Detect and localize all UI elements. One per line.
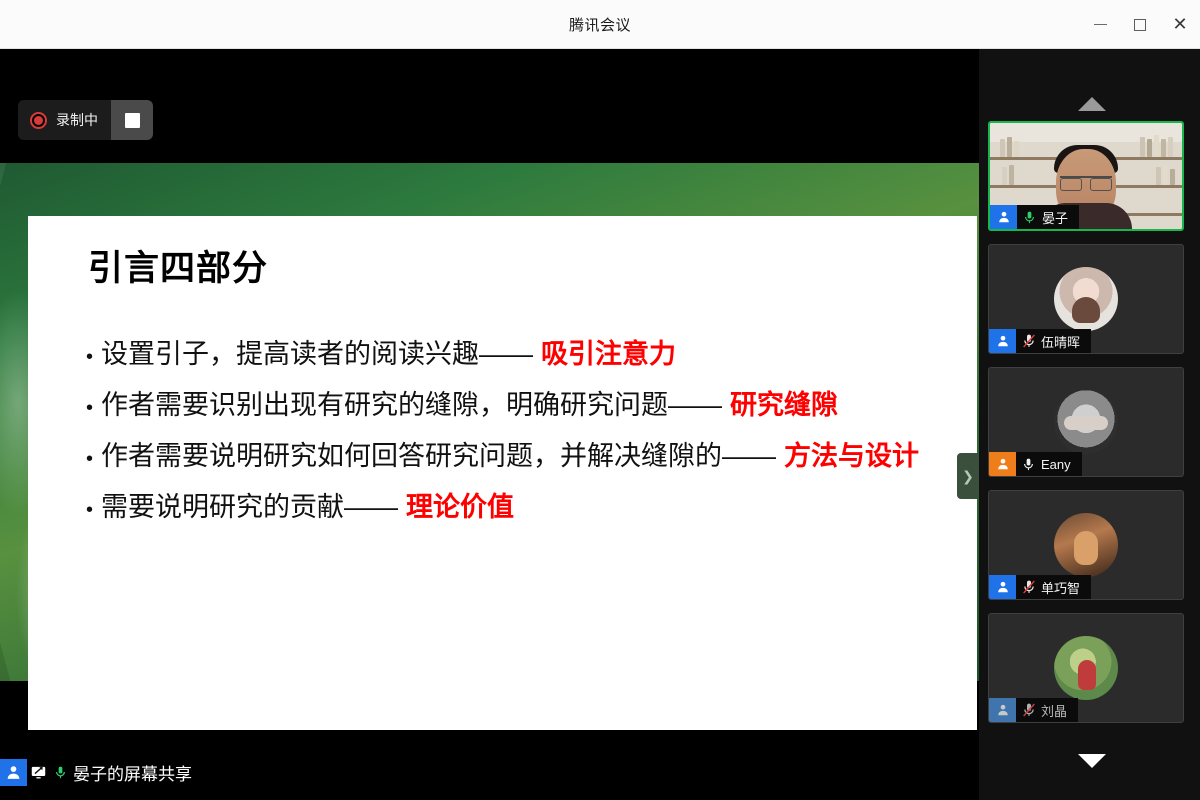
stop-recording-button[interactable] [111, 100, 153, 140]
close-icon: ✕ [1172, 16, 1187, 34]
collapse-sidebar-handle[interactable]: ❯ [957, 453, 979, 499]
bullet-text: 作者需要说明研究如何回答研究问题，并解决缝隙的—— [101, 443, 776, 470]
mic-on-icon [1016, 452, 1041, 476]
bullet-highlight: 研究缝隙 [730, 392, 838, 419]
bullet-marker: • [86, 449, 93, 469]
screen-share-icon [27, 759, 49, 786]
person-icon [989, 452, 1016, 476]
bullet-text: 设置引子，提高读者的阅读兴趣—— [101, 341, 533, 368]
participant-name: 伍晴晖 [1041, 332, 1091, 351]
meeting-body: 引言四部分 • 设置引子，提高读者的阅读兴趣——吸引注意力 • 作者需要识别出现… [0, 49, 1200, 800]
mic-active-icon [1017, 205, 1042, 229]
screen-share-status-bar: 晏子的屏幕共享 [0, 759, 192, 786]
participant-name: 刘晶 [1041, 701, 1078, 720]
participant-tile[interactable]: Eany [988, 367, 1184, 477]
bullet-marker: • [86, 398, 93, 418]
list-item: • 作者需要识别出现有研究的缝隙，明确研究问题——研究缝隙 [86, 392, 957, 419]
list-item: • 设置引子，提高读者的阅读兴趣——吸引注意力 [86, 341, 957, 368]
bullet-marker: • [86, 347, 93, 367]
list-item: • 需要说明研究的贡献——理论价值 [86, 494, 957, 521]
participant-name: Eany [1041, 457, 1082, 472]
participant-nameplate: 刘晶 [989, 698, 1078, 722]
share-status-text: 晏子的屏幕共享 [71, 760, 192, 785]
shared-screen-region[interactable]: 引言四部分 • 设置引子，提高读者的阅读兴趣——吸引注意力 • 作者需要识别出现… [0, 49, 979, 800]
bullet-marker: • [86, 500, 93, 520]
participant-tile[interactable]: 刘晶 [988, 613, 1184, 723]
mic-muted-icon [1016, 575, 1041, 599]
avatar [1054, 636, 1118, 700]
mic-muted-icon [1016, 698, 1041, 722]
person-icon [0, 759, 27, 786]
list-item: • 作者需要说明研究如何回答研究问题，并解决缝隙的——方法与设计 [86, 443, 957, 470]
tencent-meeting-window: 腾讯会议 ✕ 引言四部分 • 设置引子，提高读者的阅读兴趣——吸引注 [0, 0, 1200, 800]
person-icon [989, 575, 1016, 599]
window-title: 腾讯会议 [569, 14, 631, 35]
avatar [1054, 390, 1118, 454]
title-bar: 腾讯会议 ✕ [0, 0, 1200, 49]
mic-active-icon [49, 759, 71, 786]
minimize-icon [1094, 24, 1107, 26]
recording-indicator: 录制中 [18, 100, 153, 140]
scroll-down-icon[interactable] [1078, 754, 1106, 768]
participant-tile-list: 晏子 [988, 121, 1184, 736]
presentation-slide: 引言四部分 • 设置引子，提高读者的阅读兴趣——吸引注意力 • 作者需要识别出现… [28, 216, 977, 730]
bullet-text: 作者需要识别出现有研究的缝隙，明确研究问题—— [101, 392, 722, 419]
participant-nameplate: 晏子 [990, 205, 1079, 229]
maximize-icon [1134, 19, 1146, 31]
stop-square-icon [125, 113, 140, 128]
participant-nameplate: Eany [989, 452, 1082, 476]
record-dot-icon [30, 112, 47, 129]
participant-tile[interactable]: 伍晴晖 [988, 244, 1184, 354]
bullet-highlight: 理论价值 [406, 494, 514, 521]
participant-nameplate: 单巧智 [989, 575, 1091, 599]
bullet-highlight: 方法与设计 [784, 443, 919, 470]
scroll-up-icon[interactable] [1078, 97, 1106, 111]
participant-tile[interactable]: 晏子 [988, 121, 1184, 231]
participant-tile[interactable]: 单巧智 [988, 490, 1184, 600]
slide-title: 引言四部分 [88, 240, 268, 291]
bullet-highlight: 吸引注意力 [541, 341, 676, 368]
person-icon [989, 698, 1016, 722]
mic-muted-icon [1016, 329, 1041, 353]
minimize-button[interactable] [1080, 0, 1120, 49]
participant-nameplate: 伍晴晖 [989, 329, 1091, 353]
participant-name: 晏子 [1042, 208, 1079, 227]
glasses-icon [1060, 176, 1112, 188]
maximize-button[interactable] [1120, 0, 1160, 49]
person-icon [989, 329, 1016, 353]
recording-label: 录制中 [56, 110, 98, 130]
avatar [1054, 513, 1118, 577]
recording-status: 录制中 [18, 100, 111, 140]
person-icon [990, 205, 1017, 229]
window-controls: ✕ [1080, 0, 1200, 49]
avatar [1054, 267, 1118, 331]
participant-sidebar: 晏子 [979, 49, 1200, 800]
slide-bullet-list: • 设置引子，提高读者的阅读兴趣——吸引注意力 • 作者需要识别出现有研究的缝隙… [86, 341, 957, 545]
bullet-text: 需要说明研究的贡献—— [101, 494, 398, 521]
participant-name: 单巧智 [1041, 578, 1091, 597]
close-button[interactable]: ✕ [1160, 0, 1200, 49]
chevron-right-icon: ❯ [962, 468, 974, 485]
